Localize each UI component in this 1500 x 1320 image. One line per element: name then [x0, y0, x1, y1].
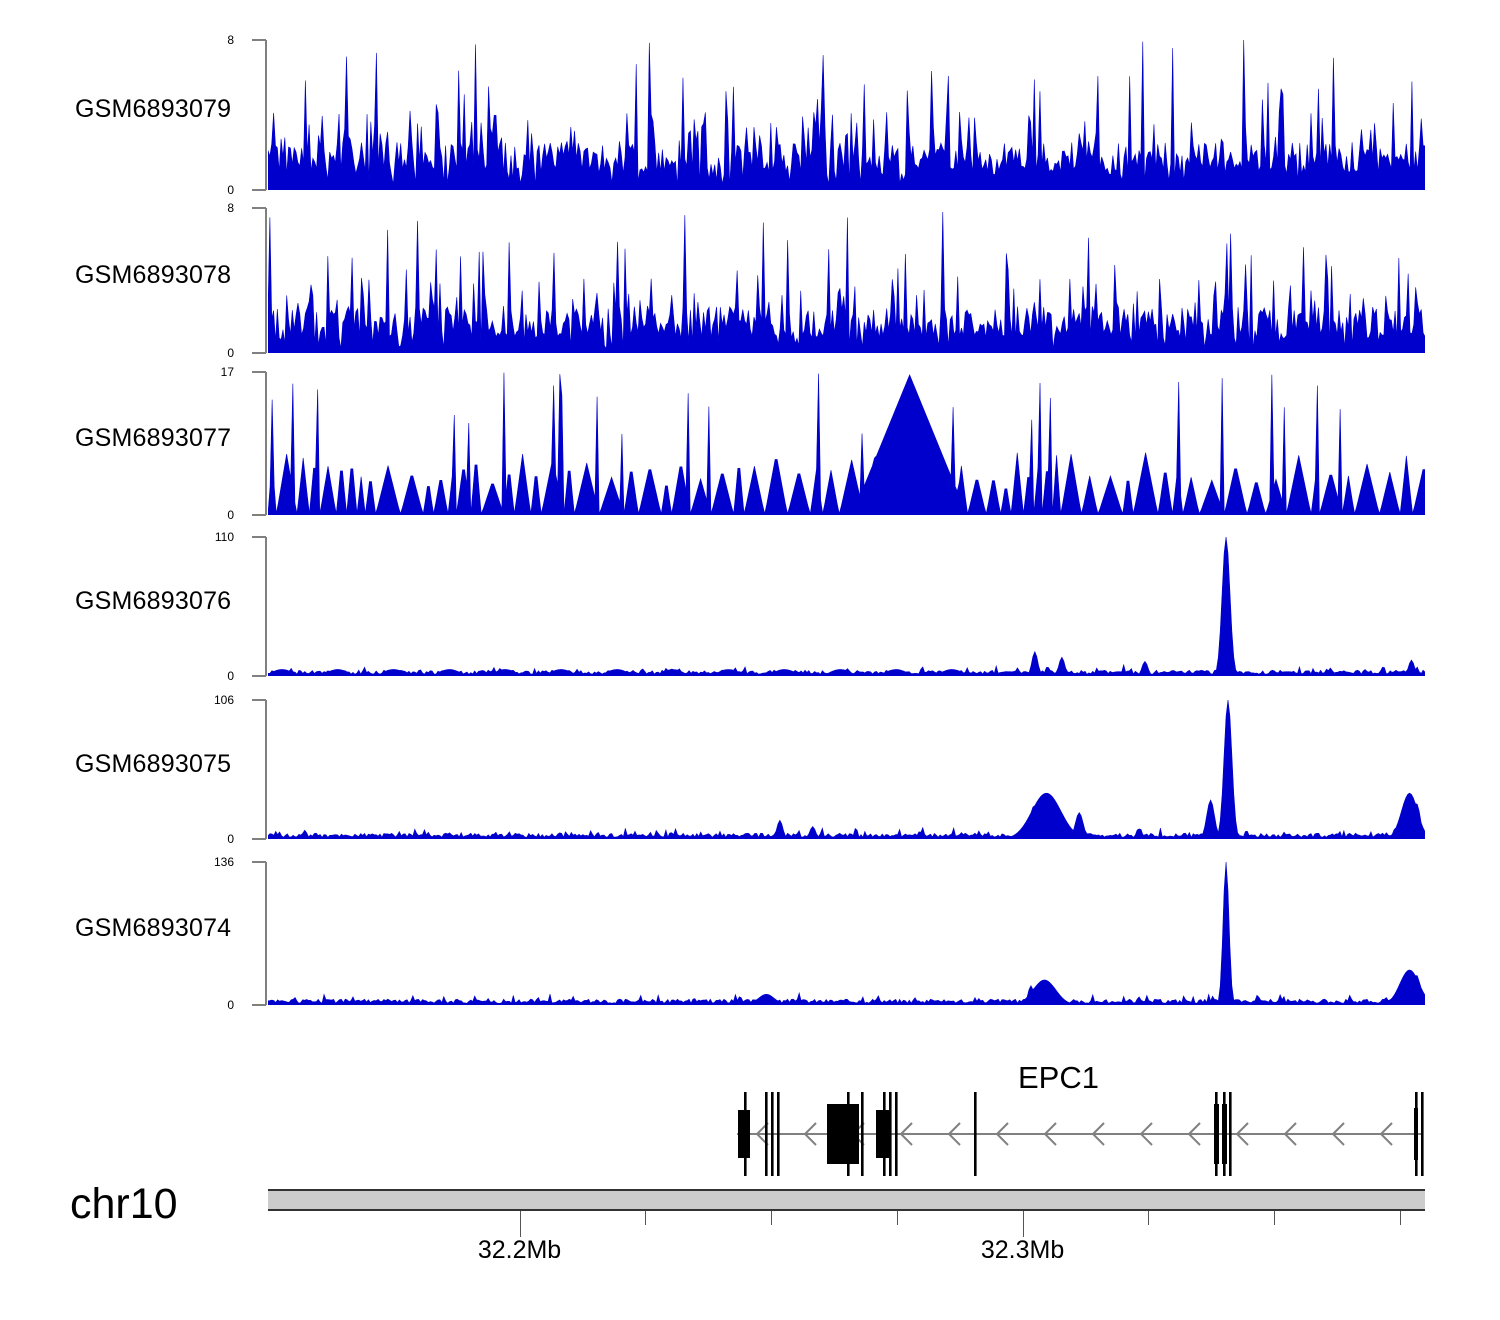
- gene-exon: [827, 1104, 859, 1164]
- track-signal-plot[interactable]: [268, 208, 1425, 353]
- gene-exon: [765, 1092, 768, 1176]
- gene-exon: [1214, 1104, 1219, 1164]
- axis-tick-minor: [897, 1211, 898, 1225]
- axis-min-value: 0: [180, 509, 234, 521]
- axis-tick-minor: [645, 1211, 646, 1225]
- axis-min-value: 0: [180, 999, 234, 1011]
- axis-min-value: 0: [180, 184, 234, 196]
- gene-exon: [876, 1110, 890, 1158]
- track-sample-label: GSM6893077: [75, 424, 231, 453]
- axis-max-value: 136: [180, 856, 234, 868]
- gene-model-svg: [0, 1040, 1500, 1180]
- track-signal-plot[interactable]: [268, 40, 1425, 190]
- track-y-axis: [238, 535, 268, 678]
- track-signal-plot[interactable]: [268, 372, 1425, 515]
- gene-exon: [1414, 1108, 1418, 1160]
- genome-browser-view: GSM689307980GSM689307880GSM6893077170GSM…: [0, 0, 1500, 1320]
- axis-min-value: 0: [180, 833, 234, 845]
- track-sample-label: GSM6893079: [75, 95, 231, 124]
- track-signal-plot[interactable]: [268, 700, 1425, 839]
- track-y-axis: [238, 206, 268, 355]
- track-y-axis: [238, 38, 268, 192]
- axis-min-value: 0: [180, 670, 234, 682]
- axis-tick-label: 32.3Mb: [981, 1236, 1064, 1265]
- gene-exon: [974, 1092, 977, 1176]
- gene-exon: [895, 1092, 898, 1176]
- axis-max-value: 8: [180, 34, 234, 46]
- track-y-axis: [238, 370, 268, 517]
- axis-tick-minor: [1274, 1211, 1275, 1225]
- gene-exon: [777, 1092, 780, 1176]
- axis-min-value: 0: [180, 347, 234, 359]
- gene-exon: [861, 1092, 864, 1176]
- track-signal-plot[interactable]: [268, 537, 1425, 676]
- gene-label: EPC1: [1018, 1060, 1099, 1096]
- axis-tick-label: 32.2Mb: [478, 1236, 561, 1265]
- gene-exon: [1222, 1104, 1227, 1164]
- axis-tick-minor: [1148, 1211, 1149, 1225]
- gene-annotation-track[interactable]: EPC1: [0, 1040, 1500, 1180]
- axis-max-value: 17: [180, 366, 234, 378]
- gene-exon: [738, 1110, 750, 1158]
- track-sample-label: GSM6893074: [75, 914, 231, 943]
- chromosome-label: chr10: [70, 1180, 178, 1229]
- track-y-axis: [238, 860, 268, 1007]
- track-sample-label: GSM6893078: [75, 261, 231, 290]
- track-y-axis: [238, 698, 268, 841]
- axis-max-value: 110: [180, 531, 234, 543]
- axis-tick-major: [520, 1211, 521, 1237]
- track-sample-label: GSM6893076: [75, 587, 231, 616]
- axis-max-value: 8: [180, 202, 234, 214]
- axis-tick-minor: [771, 1211, 772, 1225]
- axis-max-value: 106: [180, 694, 234, 706]
- gene-exon: [1229, 1092, 1232, 1176]
- gene-exon: [1421, 1092, 1424, 1176]
- axis-tick-major: [1023, 1211, 1024, 1237]
- chromosome-ideogram[interactable]: [268, 1189, 1425, 1211]
- gene-exon: [771, 1092, 774, 1176]
- track-signal-plot[interactable]: [268, 862, 1425, 1005]
- track-sample-label: GSM6893075: [75, 750, 231, 779]
- axis-tick-minor: [1400, 1211, 1401, 1225]
